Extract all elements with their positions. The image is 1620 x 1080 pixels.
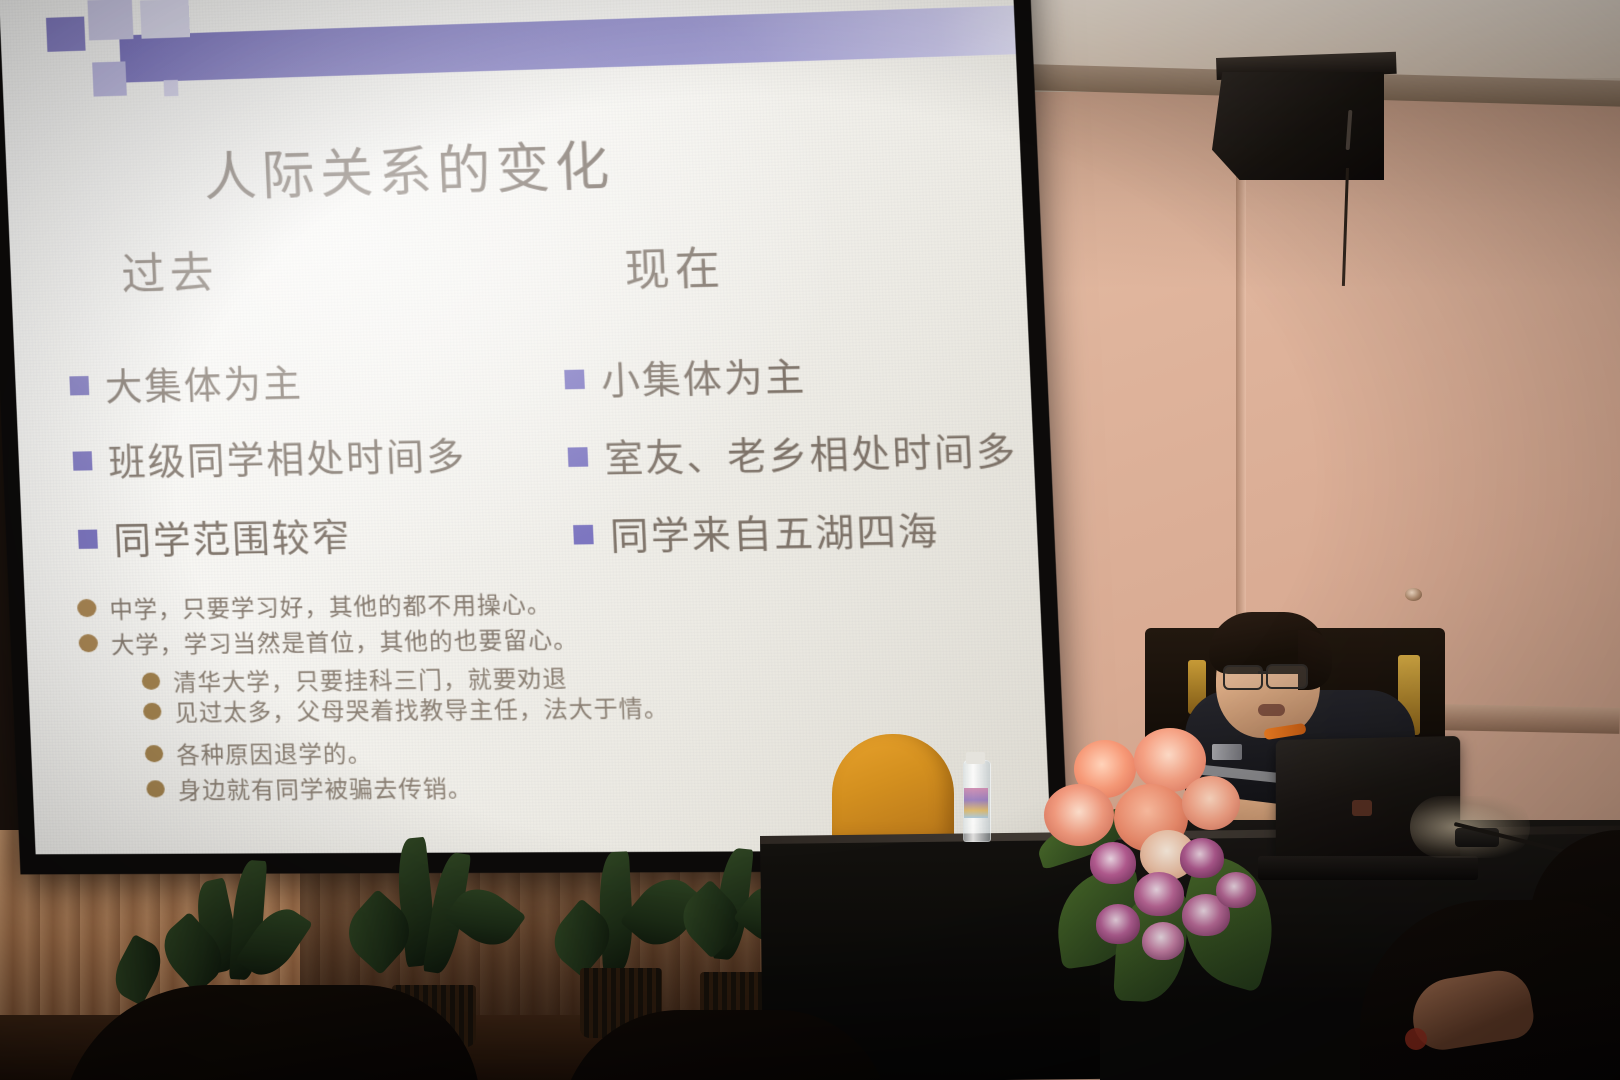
bottle-label bbox=[964, 788, 988, 818]
orchid-flower bbox=[1216, 872, 1256, 908]
dot-bullet-icon bbox=[145, 745, 164, 762]
slide-title: 人际关系的变化 bbox=[5, 117, 821, 216]
bullet-text: 同学范围较窄 bbox=[112, 507, 352, 565]
orchid-flower bbox=[1134, 872, 1184, 916]
note-row: 大学，学习当然是首位，其他的也要留心。 bbox=[78, 620, 579, 660]
square-bullet-icon bbox=[78, 529, 98, 548]
square-bullet-icon bbox=[564, 369, 585, 389]
photo-scene: 人际关系的变化 过去 现在 大集体为主 班级同学相处时间多 同学范围较窄 bbox=[0, 0, 1620, 1080]
bullet-row: 大集体为主 bbox=[69, 353, 304, 412]
banquet-chair bbox=[832, 734, 954, 846]
subnote-row: 各种原因退学的。 bbox=[144, 734, 372, 770]
audience-accent bbox=[1405, 1028, 1427, 1050]
orchid-flower bbox=[1142, 922, 1184, 960]
subnote-text: 各种原因退学的。 bbox=[176, 734, 373, 770]
square-bullet-icon bbox=[69, 375, 89, 394]
eyeglasses-icon bbox=[1223, 665, 1263, 690]
flower-arrangement bbox=[1030, 722, 1300, 952]
slide-surface: 人际关系的变化 过去 现在 大集体为主 班级同学相处时间多 同学范围较窄 bbox=[0, 0, 1051, 854]
bullet-row: 小集体为主 bbox=[563, 346, 807, 406]
wall-speaker-icon bbox=[1212, 72, 1384, 180]
column-heading-present: 现在 bbox=[623, 233, 726, 299]
bullet-text: 室友、老乡相处时间多 bbox=[603, 421, 1018, 484]
note-text: 中学，只要学习好，其他的都不用操心。 bbox=[109, 585, 552, 625]
note-row: 中学，只要学习好，其他的都不用操心。 bbox=[77, 585, 553, 626]
bullet-text: 同学来自五湖四海 bbox=[609, 501, 941, 562]
eyeglasses-icon bbox=[1266, 664, 1308, 689]
subnote-row: 见过太多，父母哭着找教导主任，法大于情。 bbox=[142, 689, 669, 728]
dot-bullet-icon bbox=[78, 634, 98, 652]
flower-petal bbox=[1044, 784, 1114, 846]
bullet-row: 室友、老乡相处时间多 bbox=[567, 421, 1019, 485]
dot-bullet-icon bbox=[146, 780, 165, 797]
bullet-text: 小集体为主 bbox=[600, 346, 807, 406]
bullet-row: 同学来自五湖四海 bbox=[572, 501, 940, 562]
bullet-row: 同学范围较窄 bbox=[77, 507, 352, 566]
bottle-cap bbox=[966, 752, 985, 764]
note-text: 大学，学习当然是首位，其他的也要留心。 bbox=[110, 620, 578, 660]
laptop-logo-icon bbox=[1352, 800, 1372, 816]
square-bullet-icon bbox=[568, 447, 589, 467]
dot-bullet-icon bbox=[77, 599, 97, 617]
eyeglasses-bridge bbox=[1258, 671, 1268, 674]
subnote-text: 见过太多，父母哭着找教导主任，法大于情。 bbox=[174, 689, 670, 728]
flower-petal bbox=[1182, 776, 1240, 830]
bullet-text: 班级同学相处时间多 bbox=[107, 426, 467, 487]
wall-fixture-screw bbox=[1405, 588, 1422, 601]
presenter-mouth bbox=[1258, 704, 1285, 716]
bullet-row: 班级同学相处时间多 bbox=[72, 426, 468, 488]
column-heading-past: 过去 bbox=[120, 238, 220, 303]
orchid-flower bbox=[1180, 838, 1224, 878]
dot-bullet-icon bbox=[143, 702, 162, 719]
orchid-flower bbox=[1090, 842, 1136, 884]
dot-bullet-icon bbox=[142, 672, 161, 689]
subnote-text: 身边就有同学被骗去传销。 bbox=[177, 769, 473, 805]
subnote-row: 身边就有同学被骗去传销。 bbox=[146, 769, 473, 806]
square-bullet-icon bbox=[73, 451, 93, 470]
bullet-text: 大集体为主 bbox=[104, 353, 304, 412]
orchid-flower bbox=[1096, 904, 1140, 944]
square-bullet-icon bbox=[573, 524, 594, 544]
